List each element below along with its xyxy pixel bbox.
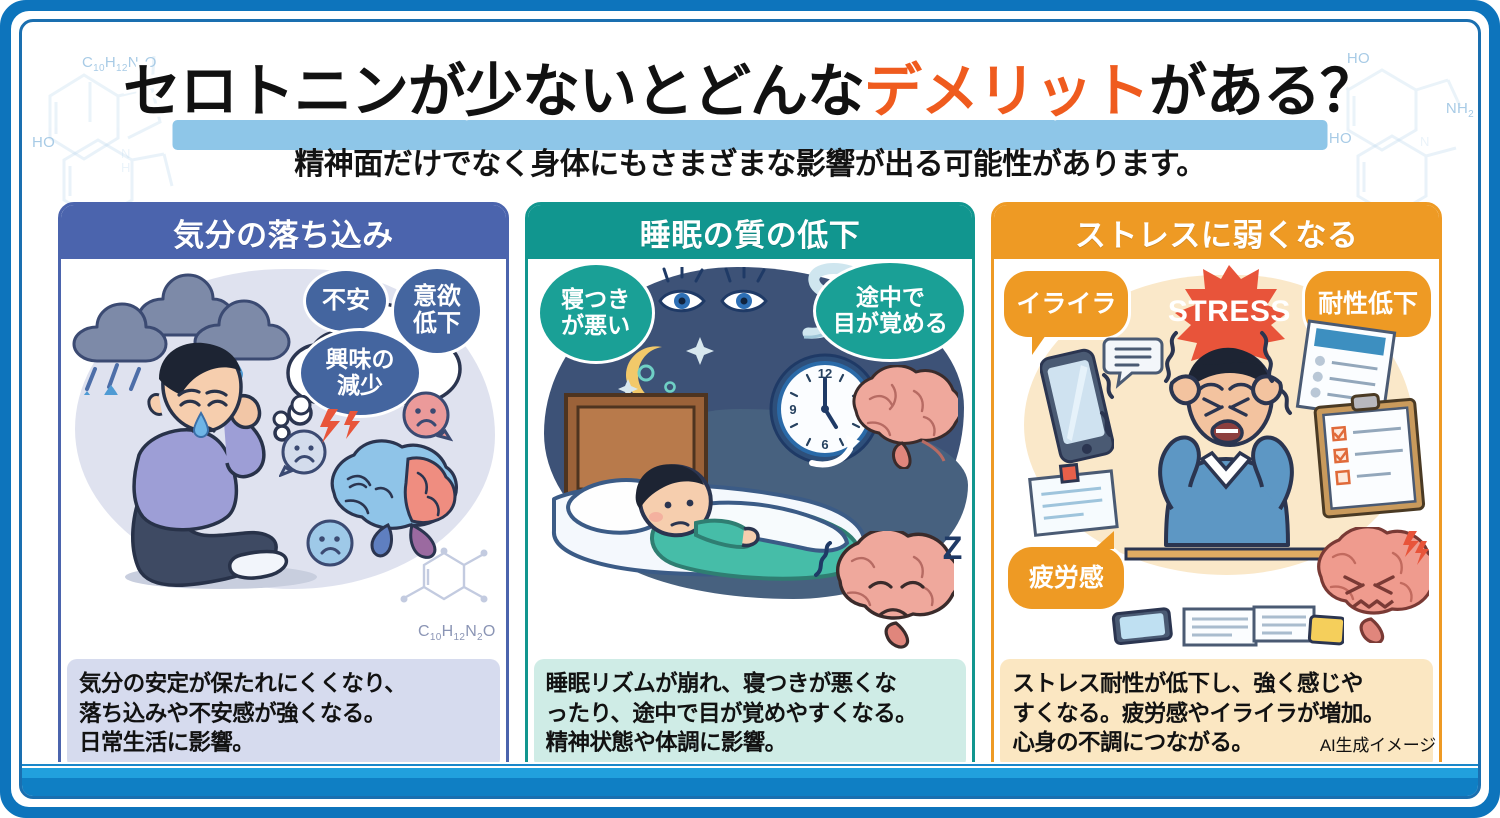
page-title-accent: デメリット — [864, 59, 1149, 124]
bubble-motivation-drop-line-1: 意欲 — [413, 284, 461, 311]
bubble-irritability-label: イライラ — [1016, 290, 1116, 318]
chem-formula-panel1: C10H12N2O — [418, 623, 496, 643]
bubble-motivation-drop-line-2: 低下 — [413, 311, 461, 338]
panel-heading-stress: ストレスに弱くなる — [994, 205, 1439, 259]
bubble-anxiety-label: 不安 — [322, 288, 370, 315]
bubble-night-waking-line-1: 途中で — [856, 285, 925, 311]
panel-caption-sleep-line-2: ったり、途中で目が覚めやすくなる。 — [546, 699, 955, 728]
bubble-motivation-drop: 意欲 低下 — [394, 269, 480, 353]
ai-generated-credit: AI生成イメージ — [1320, 731, 1436, 756]
panel-caption-stress-line-1: ストレス耐性が低下し、強く感じや — [1012, 669, 1421, 698]
stress-burst-label: STRESS — [1149, 295, 1309, 329]
bubble-anxiety: 不安 — [306, 271, 386, 331]
page-subtitle: 精神面だけでなく身体にもさまざまな影響が出る可能性があります。 — [22, 123, 1478, 183]
panel-illustration-stress: STRESS イライラ 耐性低下 疲労感 — [994, 259, 1439, 653]
lightning-bolt-icon — [316, 407, 366, 447]
bubble-fatigue-label: 疲労感 — [1029, 564, 1104, 592]
awake-eyes-icon — [656, 267, 786, 329]
small-molecule-icon — [394, 547, 494, 611]
thought-dots-icon — [271, 395, 317, 431]
curved-arrow-icon — [806, 431, 866, 471]
clipboard-checklist-icon — [1307, 389, 1435, 519]
panel-caption-mood: 気分の安定が保たれにくくなり、 落ち込みや不安感が強くなる。 日常生活に影響。 — [67, 659, 500, 769]
stress-squiggle-left-icon — [1094, 369, 1138, 459]
panel-caption-mood-line-3: 日常生活に影響。 — [79, 728, 488, 757]
header: セロトニンが少ないとどんなデメリットがある？ 精神面だけでなく身体にもさまざまな… — [22, 44, 1478, 204]
bubble-tolerance-drop-label: 耐性低下 — [1318, 290, 1418, 318]
panel-sleep-quality: 睡眠の質の低下 — [525, 202, 976, 778]
panel-caption-stress-line-2: すくなる。疲労感やイライラが増加。 — [1012, 699, 1421, 728]
sleep-z-mark: Z — [943, 530, 963, 567]
panel-illustration-mood: 不安 意欲 低下 興味の 減少 — [61, 259, 506, 653]
note-card-icon — [1024, 459, 1124, 539]
panel-illustration-sleep: 12369 — [528, 259, 973, 653]
bottom-blue-band — [22, 762, 1478, 796]
sleep-z-label: Z — [943, 530, 963, 566]
bubble-hard-to-fall-asleep-line-1: 寝つき — [561, 287, 630, 313]
bubble-hard-to-fall-asleep-line-2: が悪い — [561, 313, 630, 339]
bubble-interest-loss-line-2: 減少 — [337, 373, 383, 399]
desk-items-icon — [1104, 593, 1344, 653]
bubble-hard-to-fall-asleep: 寝つき が悪い — [540, 265, 652, 361]
snore-squiggle-icon — [810, 541, 850, 581]
panel-row: 気分の落ち込み — [58, 202, 1442, 778]
page-title-part-2: がある？ — [1149, 59, 1377, 124]
panel-caption-sleep: 睡眠リズムが崩れ、寝つきが悪くな ったり、途中で目が覚めやすくなる。 精神状態や… — [534, 659, 967, 769]
panel-caption-sleep-line-3: 精神状態や体調に影響。 — [546, 728, 955, 757]
panel-heading-sleep: 睡眠の質の低下 — [528, 205, 973, 259]
bubble-irritability: イライラ — [1004, 271, 1128, 337]
stress-burst-text: STRESS — [1168, 295, 1291, 328]
infographic-canvas: N H C10H12N2O HO N — [0, 0, 1500, 818]
page-title-part-1: セロトニンが少ないとどんな — [123, 59, 864, 124]
inner-blue-frame: N H C10H12N2O HO N — [19, 19, 1481, 799]
frowning-face-icon-3 — [303, 517, 357, 571]
page-title: セロトニンが少ないとどんなデメリットがある？ — [22, 44, 1478, 123]
panel-mood-decline: 気分の落ち込み — [58, 202, 509, 778]
panel-caption-sleep-line-1: 睡眠リズムが崩れ、寝つきが悪くな — [546, 669, 955, 698]
stress-squiggle-mid-icon — [1162, 329, 1206, 429]
frowning-face-icon-2 — [399, 389, 453, 443]
panel-caption-mood-line-2: 落ち込みや不安感が強くなる。 — [79, 699, 488, 728]
panel-stress-vulnerability: ストレスに弱くなる STRESS イライラ — [991, 202, 1442, 778]
bubble-night-waking-line-2: 目が覚める — [833, 311, 948, 337]
bubble-night-waking: 途中で 目が覚める — [816, 263, 964, 359]
panel-heading-mood: 気分の落ち込み — [61, 205, 506, 259]
panel-caption-mood-line-1: 気分の安定が保たれにくくなり、 — [79, 669, 488, 698]
bubble-interest-loss-line-1: 興味の — [326, 347, 395, 373]
